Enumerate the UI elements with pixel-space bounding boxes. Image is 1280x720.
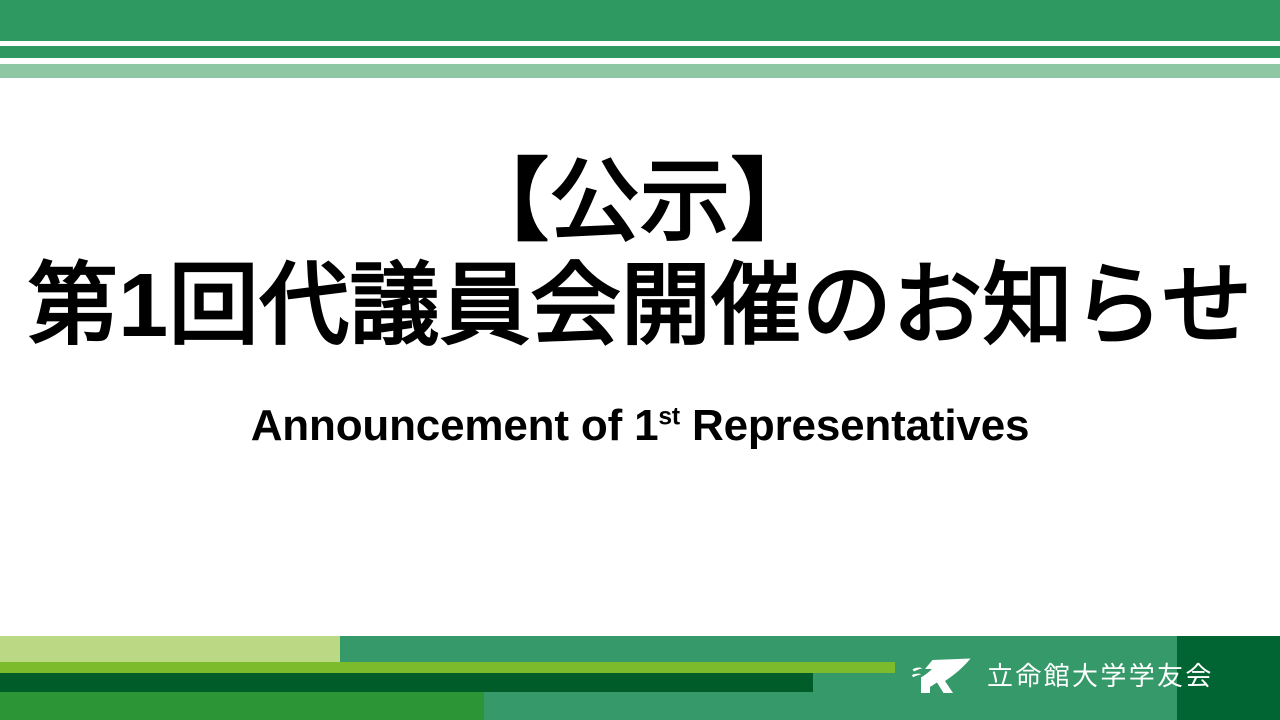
subtitle-ordinal-suffix: st <box>658 403 680 430</box>
page-title-line-2: 第1回代議員会開催のお知らせ <box>0 254 1280 358</box>
organization-logo: 立命館大学学友会 <box>912 654 1168 698</box>
organization-name: 立命館大学学友会 <box>987 663 1214 689</box>
top-band-primary <box>0 0 1280 41</box>
footer-band-darkgreen <box>0 673 813 692</box>
announcement-slide: 【公示】 第1回代議員会開催のお知らせ Announcement of 1st … <box>0 0 1280 720</box>
subtitle-text-after: Representatives <box>680 401 1029 450</box>
footer-band-lightgreen <box>0 636 340 662</box>
top-band-secondary <box>0 46 1280 58</box>
top-band-tertiary <box>0 64 1280 78</box>
slide-content: 【公示】 第1回代議員会開催のお知らせ Announcement of 1st … <box>0 150 1280 451</box>
page-title-line-1: 【公示】 <box>0 150 1280 254</box>
ritsumeikan-arrow-mark-icon <box>912 657 974 695</box>
subtitle-english: Announcement of 1st Representatives <box>0 401 1280 451</box>
subtitle-text-before: Announcement of 1 <box>251 401 659 450</box>
footer-band-yellowgreen <box>0 662 895 673</box>
footer-band-brightgreen <box>0 692 484 720</box>
